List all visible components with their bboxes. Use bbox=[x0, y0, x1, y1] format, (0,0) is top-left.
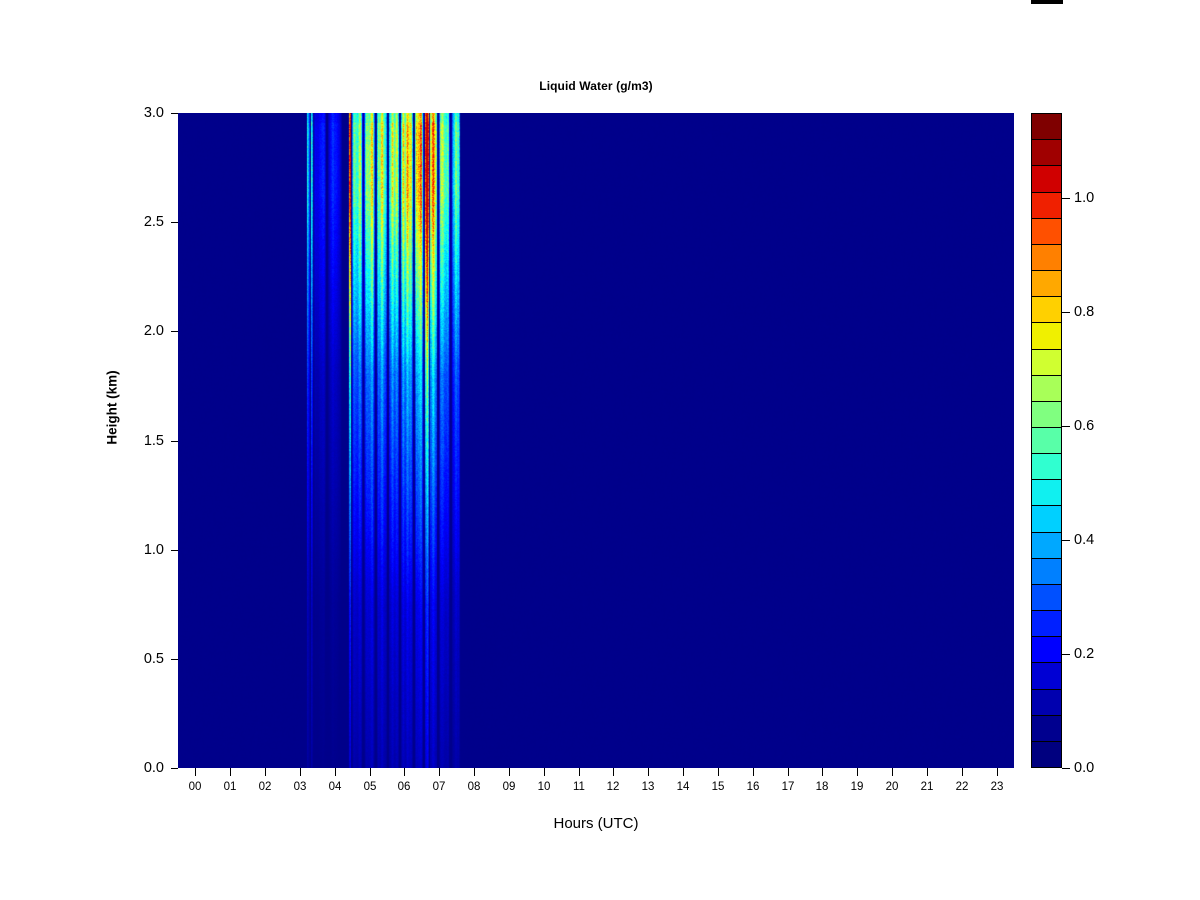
x-tick-label: 00 bbox=[175, 781, 215, 793]
y-tick-label: 1.0 bbox=[124, 543, 164, 557]
x-tick-label: 16 bbox=[733, 781, 773, 793]
colorbar bbox=[1031, 113, 1062, 768]
y-tick-label-wrap: 2.0 bbox=[118, 324, 164, 338]
colorbar-segment bbox=[1032, 401, 1061, 427]
colorbar-segment bbox=[1032, 741, 1061, 767]
colorbar-tick-label: 1.0 bbox=[1074, 191, 1124, 205]
y-tick-mark bbox=[171, 441, 178, 442]
x-tick-label: 22 bbox=[942, 781, 982, 793]
x-tick-mark bbox=[195, 768, 196, 776]
colorbar-segment bbox=[1032, 479, 1061, 505]
heatmap-plot-area bbox=[178, 113, 1014, 768]
colorbar-tick-mark bbox=[1062, 654, 1070, 655]
x-tick-label: 20 bbox=[872, 781, 912, 793]
y-tick-label-wrap: 3.0 bbox=[118, 106, 164, 120]
y-tick-label: 2.5 bbox=[124, 215, 164, 229]
top-edge-mark bbox=[1031, 0, 1063, 4]
colorbar-segment bbox=[1032, 270, 1061, 296]
y-tick-label: 2.0 bbox=[124, 324, 164, 338]
x-tick-mark bbox=[230, 768, 231, 776]
colorbar-segment bbox=[1032, 244, 1061, 270]
y-axis-title: Height (km) bbox=[105, 348, 120, 468]
colorbar-segment bbox=[1032, 610, 1061, 636]
colorbar-segment bbox=[1032, 218, 1061, 244]
x-tick-label: 10 bbox=[524, 781, 564, 793]
x-tick-label: 06 bbox=[384, 781, 424, 793]
colorbar-tick-mark bbox=[1062, 312, 1070, 313]
x-tick-mark bbox=[857, 768, 858, 776]
x-tick-label: 19 bbox=[837, 781, 877, 793]
x-tick-label: 07 bbox=[419, 781, 459, 793]
x-tick-label: 04 bbox=[315, 781, 355, 793]
x-tick-label: 23 bbox=[977, 781, 1017, 793]
x-tick-mark bbox=[300, 768, 301, 776]
y-tick-label-wrap: 2.5 bbox=[118, 215, 164, 229]
x-tick-mark bbox=[997, 768, 998, 776]
x-tick-mark bbox=[718, 768, 719, 776]
y-tick-label-wrap: 0.5 bbox=[118, 652, 164, 666]
y-tick-mark bbox=[171, 550, 178, 551]
x-tick-label: 18 bbox=[802, 781, 842, 793]
x-tick-label: 08 bbox=[454, 781, 494, 793]
colorbar-tick-mark bbox=[1062, 768, 1070, 769]
y-tick-mark bbox=[171, 113, 178, 114]
x-tick-mark bbox=[962, 768, 963, 776]
colorbar-segment bbox=[1032, 532, 1061, 558]
y-tick-label-wrap: 1.0 bbox=[118, 543, 164, 557]
colorbar-segment bbox=[1032, 139, 1061, 165]
colorbar-segment bbox=[1032, 322, 1061, 348]
y-tick-label: 1.5 bbox=[124, 434, 164, 448]
colorbar-segment bbox=[1032, 165, 1061, 191]
colorbar-tick-label: 0.2 bbox=[1074, 647, 1124, 661]
colorbar-tick-mark bbox=[1062, 426, 1070, 427]
x-tick-mark bbox=[265, 768, 266, 776]
y-tick-label: 0.5 bbox=[124, 652, 164, 666]
colorbar-segment bbox=[1032, 296, 1061, 322]
colorbar-tick-label: 0.4 bbox=[1074, 533, 1124, 547]
x-tick-mark bbox=[544, 768, 545, 776]
colorbar-segment bbox=[1032, 584, 1061, 610]
x-tick-label: 03 bbox=[280, 781, 320, 793]
heatmap-image bbox=[178, 113, 1014, 768]
colorbar-segment bbox=[1032, 192, 1061, 218]
colorbar-tick-mark bbox=[1062, 198, 1070, 199]
colorbar-tick-label: 0.8 bbox=[1074, 305, 1124, 319]
x-tick-mark bbox=[822, 768, 823, 776]
y-tick-label-wrap: 1.5 bbox=[118, 434, 164, 448]
colorbar-tick-label: 0.0 bbox=[1074, 761, 1124, 775]
x-tick-mark bbox=[753, 768, 754, 776]
y-tick-mark bbox=[171, 331, 178, 332]
colorbar-segment bbox=[1032, 689, 1061, 715]
y-tick-label-wrap: 0.0 bbox=[118, 761, 164, 775]
x-tick-label: 12 bbox=[593, 781, 633, 793]
y-tick-label: 3.0 bbox=[124, 106, 164, 120]
colorbar-segment bbox=[1032, 505, 1061, 531]
y-tick-label: 0.0 bbox=[124, 761, 164, 775]
x-tick-mark bbox=[579, 768, 580, 776]
colorbar-segment bbox=[1032, 453, 1061, 479]
colorbar-segment bbox=[1032, 114, 1061, 139]
x-tick-mark bbox=[927, 768, 928, 776]
x-tick-label: 09 bbox=[489, 781, 529, 793]
x-tick-mark bbox=[788, 768, 789, 776]
x-tick-mark bbox=[509, 768, 510, 776]
colorbar-segment bbox=[1032, 349, 1061, 375]
colorbar-segment bbox=[1032, 558, 1061, 584]
x-tick-mark bbox=[370, 768, 371, 776]
x-tick-mark bbox=[683, 768, 684, 776]
x-tick-mark bbox=[439, 768, 440, 776]
y-tick-mark bbox=[171, 222, 178, 223]
x-tick-label: 14 bbox=[663, 781, 703, 793]
colorbar-tick-label: 0.6 bbox=[1074, 419, 1124, 433]
colorbar-segment bbox=[1032, 662, 1061, 688]
x-tick-mark bbox=[648, 768, 649, 776]
y-tick-mark bbox=[171, 768, 178, 769]
x-tick-mark bbox=[404, 768, 405, 776]
x-tick-label: 01 bbox=[210, 781, 250, 793]
x-tick-label: 13 bbox=[628, 781, 668, 793]
colorbar-segment bbox=[1032, 375, 1061, 401]
x-tick-label: 02 bbox=[245, 781, 285, 793]
colorbar-tick-mark bbox=[1062, 540, 1070, 541]
x-tick-mark bbox=[474, 768, 475, 776]
colorbar-segment bbox=[1032, 715, 1061, 741]
chart-title: Liquid Water (g/m3) bbox=[178, 79, 1014, 93]
x-axis-title: Hours (UTC) bbox=[178, 815, 1014, 832]
x-tick-label: 15 bbox=[698, 781, 738, 793]
x-tick-mark bbox=[613, 768, 614, 776]
x-tick-mark bbox=[335, 768, 336, 776]
x-tick-label: 21 bbox=[907, 781, 947, 793]
y-tick-mark bbox=[171, 659, 178, 660]
x-tick-mark bbox=[892, 768, 893, 776]
colorbar-segment bbox=[1032, 427, 1061, 453]
colorbar-segment bbox=[1032, 636, 1061, 662]
